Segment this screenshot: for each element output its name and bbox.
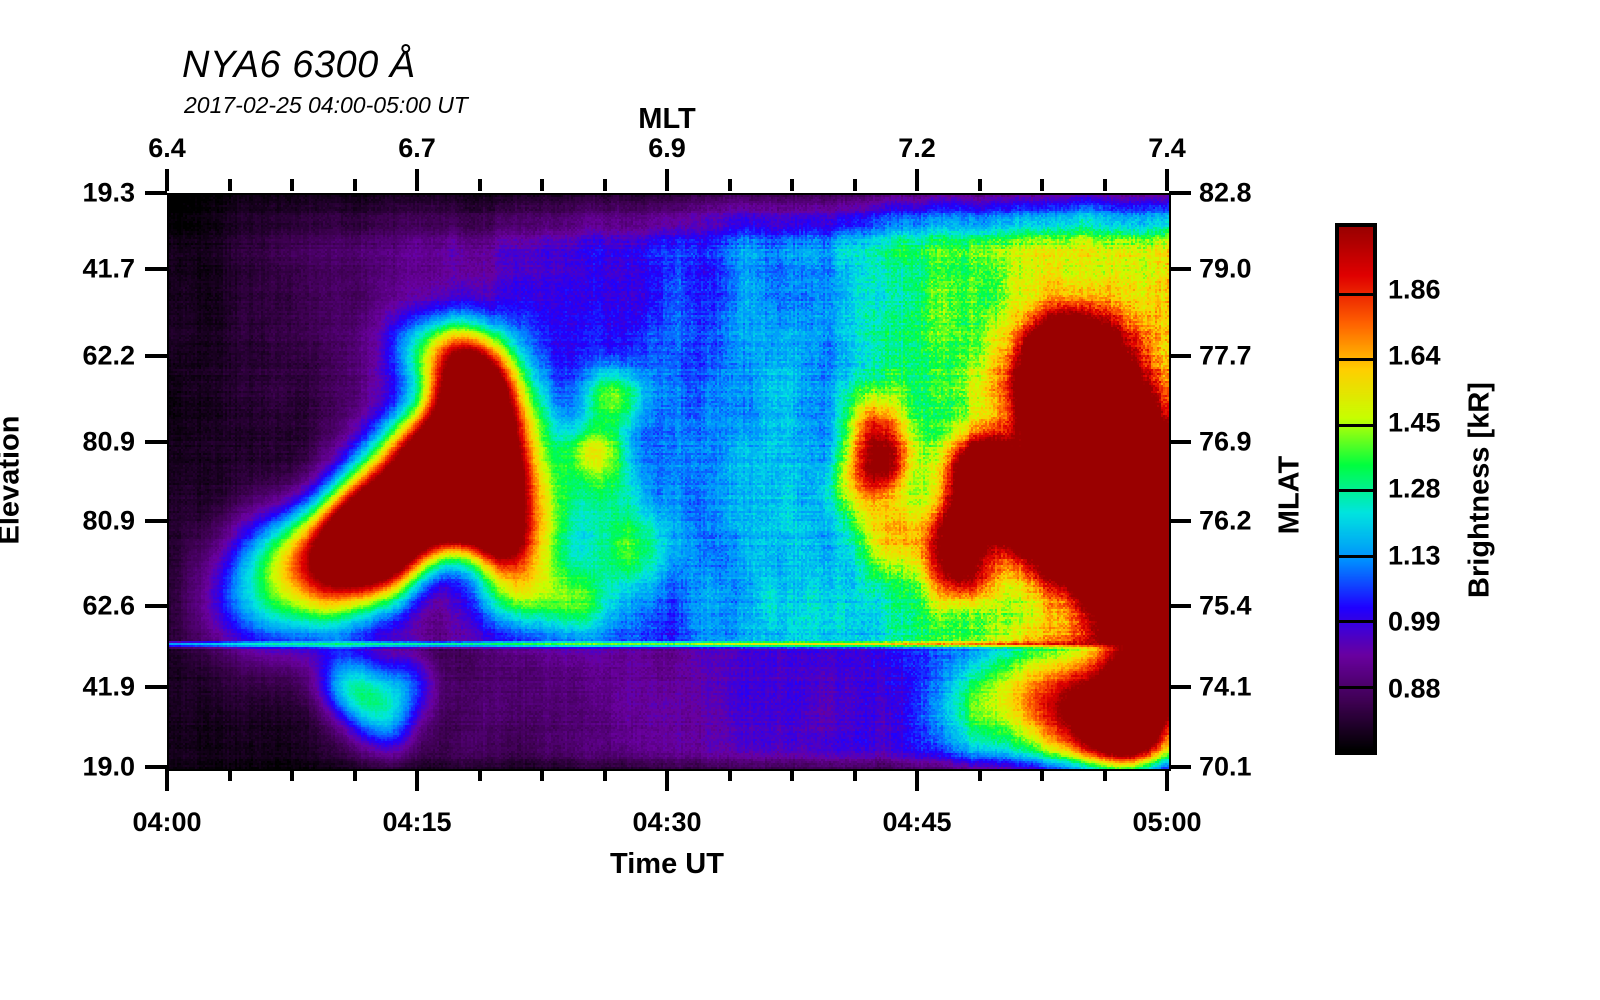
top-minor-tick	[728, 179, 732, 191]
top-minor-tick	[1103, 179, 1107, 191]
top-minor-tick	[1040, 179, 1044, 191]
bottom-minor-tick	[1103, 769, 1107, 781]
colorbar-tick-label: 1.86	[1388, 274, 1441, 305]
right-tick	[1169, 519, 1191, 523]
bottom-tick-label: 04:30	[632, 807, 701, 838]
top-minor-tick	[478, 179, 482, 191]
right-tick	[1169, 604, 1191, 608]
top-minor-tick	[353, 179, 357, 191]
left-tick-label: 19.3	[82, 178, 135, 209]
colorbar-tick-label: 1.45	[1388, 407, 1441, 438]
bottom-major-tick	[915, 769, 919, 791]
top-minor-tick	[228, 179, 232, 191]
right-tick-label: 77.7	[1199, 341, 1252, 372]
left-tick	[145, 519, 167, 523]
colorbar-tick-label: 1.64	[1388, 341, 1441, 372]
left-tick	[145, 267, 167, 271]
bottom-minor-tick	[353, 769, 357, 781]
colorbar-tick-label: 0.88	[1388, 673, 1441, 704]
bottom-axis-title: Time UT	[610, 848, 724, 881]
left-tick	[145, 604, 167, 608]
top-tick-label: 7.4	[1148, 133, 1186, 164]
right-axis-title: MLAT	[1274, 395, 1307, 595]
left-tick-label: 80.9	[82, 506, 135, 537]
plot-subtitle: 2017-02-25 04:00-05:00 UT	[184, 92, 468, 119]
colorbar-divider	[1339, 424, 1373, 427]
colorbar-tick-label: 1.28	[1388, 474, 1441, 505]
top-tick-label: 7.2	[898, 133, 936, 164]
left-tick	[145, 440, 167, 444]
right-tick-label: 76.9	[1199, 426, 1252, 457]
bottom-major-tick	[665, 769, 669, 791]
right-tick-label: 79.0	[1199, 253, 1252, 284]
left-tick	[145, 191, 167, 195]
right-tick	[1169, 765, 1191, 769]
top-minor-tick	[290, 179, 294, 191]
bottom-minor-tick	[290, 769, 294, 781]
bottom-minor-tick	[478, 769, 482, 781]
left-tick-label: 62.2	[82, 341, 135, 372]
top-major-tick	[665, 169, 669, 191]
left-tick	[145, 354, 167, 358]
bottom-minor-tick	[228, 769, 232, 781]
colorbar-divider	[1339, 358, 1373, 361]
bottom-minor-tick	[603, 769, 607, 781]
right-tick-label: 82.8	[1199, 178, 1252, 209]
top-major-tick	[165, 169, 169, 191]
right-tick	[1169, 354, 1191, 358]
left-tick	[145, 685, 167, 689]
left-tick-label: 19.0	[82, 752, 135, 783]
bottom-tick-label: 05:00	[1132, 807, 1201, 838]
top-minor-tick	[790, 179, 794, 191]
bottom-tick-label: 04:15	[382, 807, 451, 838]
colorbar-title: Brightness [kR]	[1464, 320, 1497, 660]
left-tick-label: 41.9	[82, 672, 135, 703]
left-tick-label: 41.7	[82, 253, 135, 284]
top-minor-tick	[603, 179, 607, 191]
colorbar-tick-label: 0.99	[1388, 607, 1441, 638]
top-minor-tick	[978, 179, 982, 191]
bottom-minor-tick	[1040, 769, 1044, 781]
right-tick	[1169, 267, 1191, 271]
bottom-minor-tick	[790, 769, 794, 781]
top-major-tick	[915, 169, 919, 191]
right-tick	[1169, 440, 1191, 444]
colorbar-tick-label: 1.13	[1388, 540, 1441, 571]
right-tick	[1169, 685, 1191, 689]
top-minor-tick	[853, 179, 857, 191]
top-major-tick	[415, 169, 419, 191]
top-axis-title: MLT	[638, 103, 695, 136]
bottom-major-tick	[415, 769, 419, 791]
top-tick-label: 6.4	[148, 133, 186, 164]
top-tick-label: 6.9	[648, 133, 686, 164]
left-tick-label: 62.6	[82, 590, 135, 621]
bottom-tick-label: 04:00	[132, 807, 201, 838]
colorbar-divider	[1339, 489, 1373, 492]
right-tick-label: 74.1	[1199, 672, 1252, 703]
right-tick-label: 70.1	[1199, 752, 1252, 783]
left-tick	[145, 765, 167, 769]
bottom-minor-tick	[978, 769, 982, 781]
right-tick-label: 76.2	[1199, 506, 1252, 537]
colorbar-divider	[1339, 555, 1373, 558]
right-tick	[1169, 191, 1191, 195]
top-tick-label: 6.7	[398, 133, 436, 164]
bottom-minor-tick	[853, 769, 857, 781]
colorbar-divider	[1339, 293, 1373, 296]
colorbar	[1335, 223, 1377, 755]
plot-title: NYA6 6300 Å	[182, 44, 416, 87]
bottom-tick-label: 04:45	[882, 807, 951, 838]
left-tick-label: 80.9	[82, 426, 135, 457]
keogram-image	[169, 195, 1169, 769]
left-axis-title: Elevation	[0, 350, 27, 610]
bottom-minor-tick	[540, 769, 544, 781]
keogram-plot-frame	[167, 193, 1171, 771]
top-major-tick	[1165, 169, 1169, 191]
right-tick-label: 75.4	[1199, 590, 1252, 621]
top-minor-tick	[540, 179, 544, 191]
bottom-major-tick	[1165, 769, 1169, 791]
bottom-minor-tick	[728, 769, 732, 781]
bottom-major-tick	[165, 769, 169, 791]
colorbar-divider	[1339, 620, 1373, 623]
colorbar-divider	[1339, 686, 1373, 689]
